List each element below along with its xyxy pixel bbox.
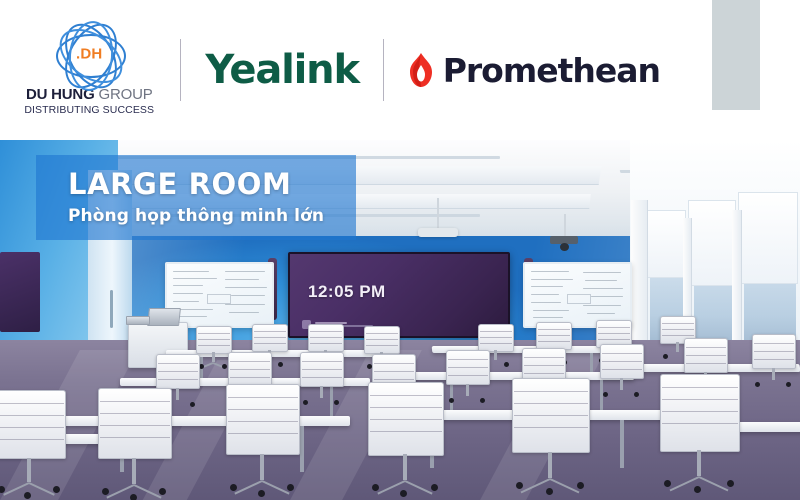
camera-lens-icon [560, 243, 569, 251]
chair [512, 378, 588, 496]
display-clock: 12:05 PM [308, 282, 386, 302]
whiteboard-right [523, 262, 632, 328]
chair [446, 350, 488, 404]
chair [226, 384, 298, 496]
logo-divider-1 [180, 39, 181, 101]
logo-divider-2 [383, 39, 384, 101]
chair [0, 390, 64, 498]
logo-row: .DH DU HUNG GROUP DISTRIBUTING SUCCESS Y… [0, 0, 660, 140]
podium-laptop [147, 308, 181, 326]
chair [300, 352, 342, 406]
brand-header: .DH DU HUNG GROUP DISTRIBUTING SUCCESS Y… [0, 0, 800, 140]
ceiling-microphone-stem [437, 198, 439, 230]
room-type-banner: LARGE ROOM Phòng họp thông minh lớn [36, 155, 356, 240]
header-accent-block [712, 0, 760, 110]
banner-title: LARGE ROOM [68, 169, 356, 199]
promethean-wordmark: Promethean [443, 54, 660, 87]
banner-subtitle: Phòng họp thông minh lớn [68, 206, 356, 226]
chair [98, 388, 170, 500]
chair [368, 382, 442, 498]
chair [660, 374, 738, 496]
ceiling-microphone [418, 228, 458, 237]
chair [196, 326, 230, 368]
door-handle [110, 290, 113, 328]
yealink-logo[interactable]: Yealink [205, 50, 359, 90]
whiteboard-left [165, 262, 274, 328]
chair [752, 334, 794, 388]
flame-icon [408, 52, 434, 88]
page-root: .DH DU HUNG GROUP DISTRIBUTING SUCCESS Y… [0, 0, 800, 500]
duhung-tagline: DISTRIBUTING SUCCESS [24, 104, 154, 116]
left-wall-display [0, 252, 40, 332]
duhung-group-logo[interactable]: .DH DU HUNG GROUP DISTRIBUTING SUCCESS [22, 24, 156, 117]
duhung-monogram: .DH [76, 45, 102, 62]
promethean-logo[interactable]: Promethean [408, 52, 660, 88]
window-shade [688, 200, 736, 286]
chair [600, 344, 642, 398]
ceiling-camera-stem [564, 214, 566, 238]
window-shade [644, 210, 686, 278]
window-shade [738, 192, 798, 284]
duhung-atom-icon: .DH [47, 24, 131, 84]
podium-item [126, 316, 150, 325]
